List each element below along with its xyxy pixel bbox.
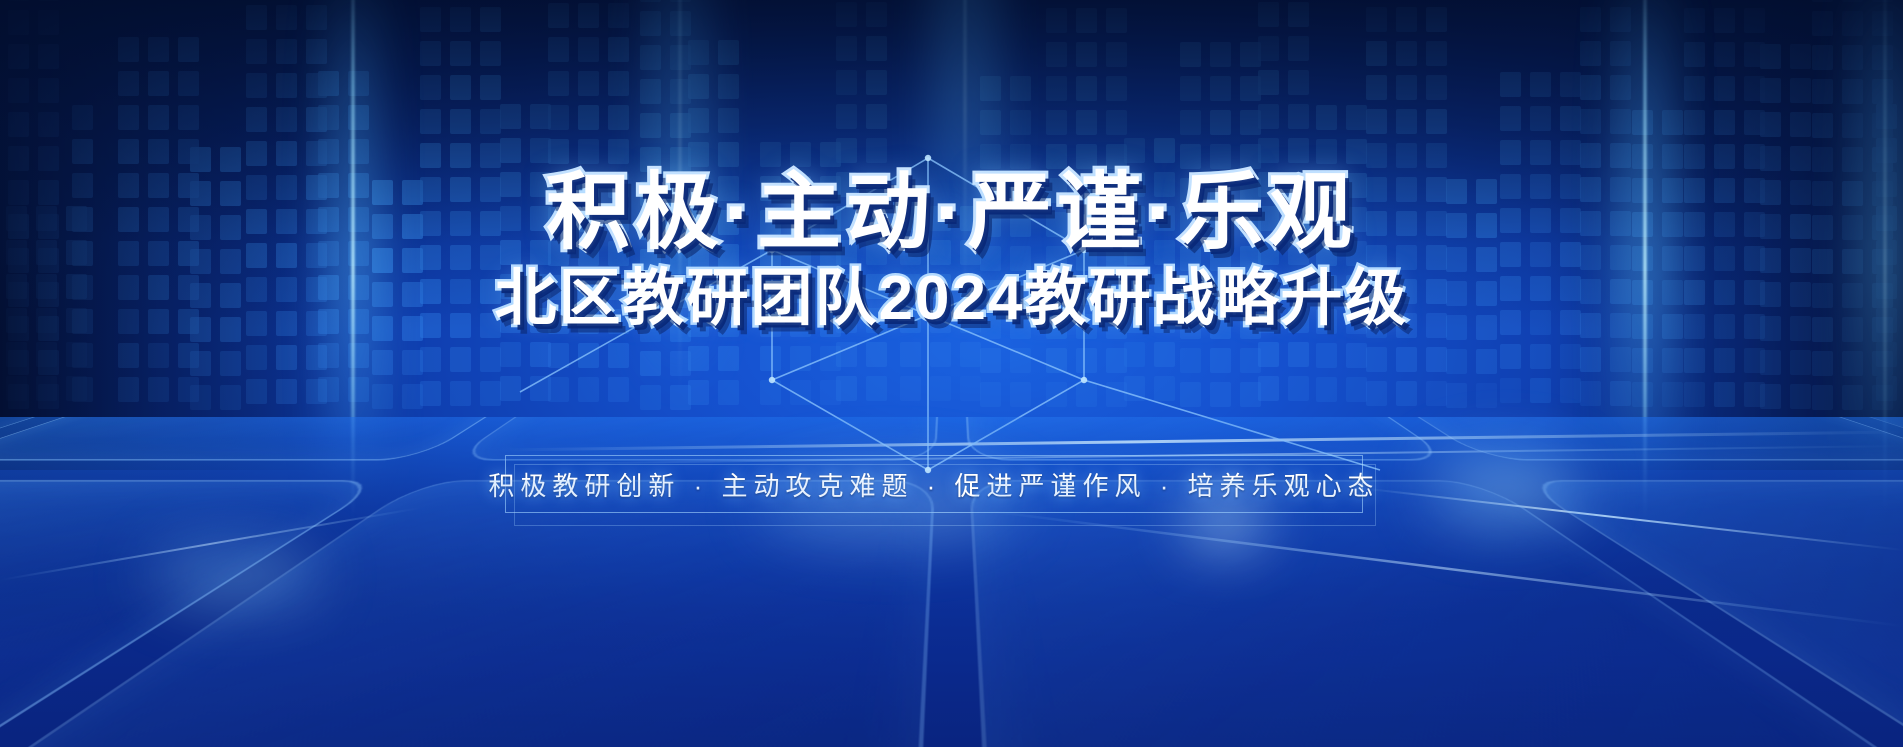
pixel-block	[318, 105, 339, 130]
floor-tile	[0, 417, 247, 461]
pixel-row	[6, 206, 87, 231]
pixel-block	[1288, 172, 1309, 197]
pixel-block	[1366, 75, 1387, 100]
pixel-block	[1240, 348, 1261, 373]
pixel-row	[372, 316, 423, 341]
pixel-row	[372, 180, 423, 205]
pixel-tower	[420, 7, 501, 406]
pixel-block	[38, 282, 59, 307]
pixel-block	[1560, 106, 1581, 131]
pixel-block	[1180, 382, 1201, 407]
pixel-block	[688, 278, 709, 303]
pixel-block	[318, 139, 339, 164]
pixel-block	[688, 346, 709, 371]
pixel-block	[500, 240, 521, 265]
pixel-row	[1632, 110, 1683, 135]
pixel-block	[900, 240, 921, 265]
pixel-block	[500, 104, 521, 129]
pixel-block	[836, 172, 857, 197]
pixel-row	[1760, 384, 1811, 409]
pixel-block	[220, 181, 241, 206]
floor-tile	[962, 417, 1453, 461]
pixel-block	[1366, 279, 1387, 304]
pixel-row	[318, 241, 369, 266]
pixel-row	[1500, 276, 1581, 301]
pixel-block	[6, 240, 27, 265]
pixel-block	[548, 105, 569, 130]
pixel-block	[8, 282, 29, 307]
pixel-block	[718, 210, 739, 235]
pixel-block	[718, 346, 739, 371]
pixel-tower	[1316, 105, 1367, 402]
pixel-block	[1812, 317, 1833, 342]
pixel-block	[688, 108, 709, 133]
pixel-block	[348, 241, 369, 266]
pixel-block	[372, 214, 393, 239]
pixel-block	[1046, 246, 1067, 271]
pixel-block	[1714, 280, 1735, 305]
pixel-block	[1812, 0, 1833, 2]
pixel-block	[1366, 41, 1387, 66]
pixel-row	[1580, 75, 1631, 100]
pixel-row	[8, 282, 59, 307]
pixel-block	[318, 207, 339, 232]
pixel-row	[1632, 348, 1683, 373]
pixel-block	[1316, 139, 1337, 164]
pixel-block	[1476, 213, 1497, 238]
pixel-row	[1580, 313, 1631, 338]
pixel-block	[1580, 279, 1601, 304]
pixel-row	[1180, 212, 1261, 237]
pixel-block	[66, 240, 87, 265]
pixel-block	[1426, 347, 1447, 372]
pixel-row	[1632, 280, 1683, 305]
pixel-row	[640, 317, 691, 342]
pixel-row	[1366, 313, 1447, 338]
pixel-block	[348, 105, 369, 130]
pixel-block	[500, 376, 521, 401]
pixel-block	[500, 342, 521, 367]
pixel-block	[480, 177, 501, 202]
pixel-block	[1426, 143, 1447, 168]
pixel-block	[1076, 314, 1097, 339]
pixel-block	[1076, 348, 1097, 373]
pixel-block	[960, 308, 981, 333]
pixel-block	[1124, 376, 1145, 401]
pixel-block	[866, 342, 887, 367]
pixel-row	[980, 314, 1031, 339]
pixel-row	[980, 280, 1031, 305]
pixel-block	[276, 39, 297, 64]
pixel-block	[1632, 178, 1653, 203]
pixel-row	[548, 343, 629, 368]
pixel-block	[1842, 317, 1863, 342]
pixel-block	[1316, 241, 1337, 266]
pixel-block	[1812, 249, 1833, 274]
pixel-block	[1010, 110, 1031, 135]
pixel-row	[1258, 308, 1309, 333]
pixel-block	[118, 105, 139, 130]
pixel-block	[306, 243, 327, 268]
pixel-block	[1426, 211, 1447, 236]
pixel-block	[450, 7, 471, 32]
pixel-row	[1366, 177, 1447, 202]
pixel-row	[420, 109, 501, 134]
pixel-block	[450, 279, 471, 304]
pixel-block	[640, 249, 661, 274]
pixel-row	[640, 249, 691, 274]
pixel-block	[608, 3, 629, 28]
pixel-tower	[118, 37, 199, 402]
pixel-block	[1872, 385, 1893, 410]
pixel-block	[8, 350, 29, 375]
pixel-block	[8, 10, 29, 35]
pixel-block	[1288, 376, 1309, 401]
pixel-row	[6, 376, 87, 401]
pixel-block	[578, 377, 599, 402]
pixel-row	[1500, 344, 1581, 369]
tagline-box: 积极教研创新 · 主动攻克难题 · 促进严谨作风 · 培养乐观心态	[505, 455, 1363, 513]
pixel-block	[178, 343, 199, 368]
pixel-block	[1124, 172, 1145, 197]
pixel-block	[1288, 2, 1309, 27]
pixel-block	[1396, 211, 1417, 236]
pixel-block	[1842, 45, 1863, 70]
pixel-block	[1790, 112, 1811, 137]
pixel-block	[246, 39, 267, 64]
pixel-block	[578, 343, 599, 368]
pixel-row	[1684, 144, 1765, 169]
pixel-block	[72, 139, 93, 164]
pixel-block	[1010, 246, 1031, 271]
pixel-block	[1580, 109, 1601, 134]
pixel-block	[980, 246, 1001, 271]
pixel-block	[1872, 249, 1893, 274]
pixel-block	[790, 210, 811, 235]
pixel-row	[1046, 280, 1127, 305]
pixel-row	[1876, 172, 1903, 197]
pixel-block	[640, 317, 661, 342]
pixel-block	[372, 384, 393, 409]
pixel-block	[1684, 382, 1705, 407]
pixel-block	[1476, 315, 1497, 340]
pixel-row	[1812, 385, 1893, 410]
pixel-row	[1180, 76, 1261, 101]
pixel-block	[1684, 314, 1705, 339]
pixel-block	[1744, 144, 1765, 169]
pixel-block	[760, 142, 781, 167]
pixel-row	[1180, 348, 1261, 373]
pixel-block	[1632, 212, 1653, 237]
pixel-row	[1760, 350, 1811, 375]
pixel-block	[1610, 279, 1631, 304]
pixel-row	[318, 343, 369, 368]
banner-title-sub: 北区教研团队2024教研战略升级	[0, 265, 1903, 333]
pixel-row	[118, 275, 199, 300]
pixel-block	[1316, 105, 1337, 130]
pixel-block	[1476, 179, 1497, 204]
pixel-block	[500, 138, 521, 163]
beam-halo	[650, 0, 710, 390]
pixel-row	[190, 351, 241, 376]
pixel-block	[640, 283, 661, 308]
pixel-block	[608, 37, 629, 62]
pixel-row	[760, 380, 841, 405]
pixel-block	[608, 275, 629, 300]
pixel-row	[318, 275, 369, 300]
pixel-block	[1714, 76, 1735, 101]
pixel-block	[1106, 348, 1127, 373]
pixel-row	[1046, 314, 1127, 339]
pixel-block	[220, 283, 241, 308]
top-vignette	[0, 0, 1903, 330]
pixel-tower	[900, 206, 981, 401]
pixel-block	[178, 309, 199, 334]
pixel-row	[1446, 315, 1497, 340]
pixel-block	[38, 316, 59, 341]
pixel-block	[836, 206, 857, 231]
pixel-row	[1876, 206, 1903, 231]
pixel-block	[578, 3, 599, 28]
pixel-row	[1812, 0, 1893, 2]
pixel-block	[1426, 177, 1447, 202]
pixel-block	[1258, 36, 1279, 61]
pixel-block	[420, 313, 441, 338]
pixel-block	[900, 206, 921, 231]
pixel-block	[1124, 342, 1145, 367]
beam-core	[352, 0, 355, 520]
pixel-row	[246, 175, 327, 200]
pixel-row	[836, 376, 887, 401]
pixel-row	[118, 207, 199, 232]
pixel-block	[1346, 275, 1367, 300]
pixel-block	[1684, 246, 1705, 271]
pixel-block	[1366, 177, 1387, 202]
pixel-block	[866, 308, 887, 333]
pixel-block	[1446, 383, 1467, 408]
pixel-block	[148, 343, 169, 368]
pixel-block	[670, 45, 691, 70]
pixel-row	[8, 214, 59, 239]
pixel-block	[1154, 274, 1175, 299]
pixel-block	[1396, 41, 1417, 66]
pixel-row	[1580, 381, 1631, 406]
pixel-tower	[1258, 0, 1309, 401]
pixel-block	[548, 275, 569, 300]
pixel-block	[190, 385, 211, 410]
pixel-block	[1046, 144, 1067, 169]
pixel-row	[1046, 212, 1127, 237]
pixel-row	[688, 176, 739, 201]
pixel-block	[1106, 246, 1127, 271]
pixel-block	[1580, 211, 1601, 236]
pixel-tower	[760, 142, 841, 405]
pixel-block	[318, 343, 339, 368]
pixel-block	[372, 248, 393, 273]
pixel-block	[420, 75, 441, 100]
pixel-block	[66, 342, 87, 367]
pixel-block	[1760, 316, 1781, 341]
pixel-block	[790, 312, 811, 337]
pixel-block	[790, 142, 811, 167]
pixel-row	[1258, 104, 1309, 129]
pixel-row	[640, 11, 691, 36]
floor-tile	[1516, 480, 1903, 747]
pixel-row	[8, 248, 59, 273]
pixel-row	[1500, 208, 1581, 233]
pixel-block	[866, 240, 887, 265]
pixel-block	[1560, 140, 1581, 165]
pixel-block	[178, 139, 199, 164]
pixel-block	[930, 376, 951, 401]
pixel-block	[1530, 242, 1551, 267]
pixel-block	[1530, 276, 1551, 301]
pixel-block	[118, 207, 139, 232]
pixel-block	[1790, 214, 1811, 239]
pixel-block	[1106, 144, 1127, 169]
pixel-block	[480, 381, 501, 406]
pixel-row	[548, 71, 629, 96]
pixel-block	[1154, 138, 1175, 163]
pixel-block	[1240, 212, 1261, 237]
pixel-block	[900, 274, 921, 299]
pixel-row	[1180, 144, 1261, 169]
pixel-block	[420, 381, 441, 406]
pixel-block	[220, 385, 241, 410]
pixel-row	[836, 70, 887, 95]
pixel-row	[1500, 106, 1581, 131]
pixel-row	[420, 211, 501, 236]
pixel-block	[548, 173, 569, 198]
pixel-block	[420, 143, 441, 168]
pixel-row	[1876, 274, 1903, 299]
light-beam-left	[330, 0, 376, 520]
pixel-row	[1760, 146, 1811, 171]
pixel-block	[348, 173, 369, 198]
pixel-row	[548, 309, 629, 334]
pixel-tower	[640, 0, 691, 410]
pixel-block	[38, 146, 59, 171]
pixel-row	[836, 240, 887, 265]
pixel-block	[1426, 313, 1447, 338]
pixel-row	[1046, 144, 1127, 169]
pixel-block	[1346, 207, 1367, 232]
pixel-block	[1046, 212, 1067, 237]
pixel-row	[1760, 214, 1811, 239]
pixel-block	[790, 346, 811, 371]
pixel-row	[72, 241, 93, 266]
pixel-block	[1346, 343, 1367, 368]
pixel-block	[1760, 214, 1781, 239]
pixel-block	[1106, 76, 1127, 101]
pixel-row	[500, 274, 551, 299]
pixel-row	[836, 206, 887, 231]
pixel-block	[548, 207, 569, 232]
pixel-row	[688, 244, 739, 269]
pixel-block	[118, 275, 139, 300]
pixel-block	[118, 173, 139, 198]
pixel-block	[1560, 276, 1581, 301]
pixel-block	[306, 39, 327, 64]
pixel-block	[1610, 7, 1631, 32]
pixel-block	[718, 108, 739, 133]
pixel-block	[480, 279, 501, 304]
pixel-row	[8, 0, 59, 1]
pixel-row	[1500, 140, 1581, 165]
pixel-block	[8, 214, 29, 239]
pixel-row	[72, 377, 93, 402]
pixel-block	[178, 377, 199, 402]
pixel-row	[640, 385, 691, 410]
pixel-block	[1500, 106, 1521, 131]
pixel-block	[246, 175, 267, 200]
pixel-row	[688, 142, 739, 167]
pixel-block	[820, 142, 841, 167]
pixel-block	[306, 141, 327, 166]
pixel-block	[608, 71, 629, 96]
pixel-row	[420, 245, 501, 270]
pixel-block	[640, 351, 661, 376]
pixel-row	[900, 342, 981, 367]
pixel-block	[1744, 178, 1765, 203]
pixel-block	[1684, 348, 1705, 373]
pixel-row	[1124, 138, 1175, 163]
pixel-tower	[1760, 44, 1811, 409]
pixel-block	[1366, 313, 1387, 338]
pixel-block	[318, 275, 339, 300]
pixel-block	[530, 274, 551, 299]
pixel-block	[1106, 178, 1127, 203]
pixel-row	[836, 274, 887, 299]
pixel-block	[578, 139, 599, 164]
pixel-row	[640, 45, 691, 70]
pixel-block	[1760, 248, 1781, 273]
pixel-block	[1662, 212, 1683, 237]
pixel-block	[306, 107, 327, 132]
pixel-block	[1744, 348, 1765, 373]
pixel-block	[1662, 382, 1683, 407]
pixel-block	[38, 10, 59, 35]
pixel-row	[420, 41, 501, 66]
pixel-block	[178, 207, 199, 232]
pixel-block	[670, 283, 691, 308]
pixel-block	[688, 380, 709, 405]
pixel-row	[420, 7, 501, 32]
pixel-row	[72, 173, 93, 198]
pixel-block	[420, 211, 441, 236]
pixel-block	[1872, 45, 1893, 70]
pixel-row	[1580, 279, 1631, 304]
pixel-row	[548, 275, 629, 300]
pixel-block	[1210, 314, 1231, 339]
pixel-block	[640, 45, 661, 70]
pixel-block	[1288, 36, 1309, 61]
pixel-block	[500, 274, 521, 299]
floor-tile	[1309, 417, 1903, 461]
pixel-block	[1258, 376, 1279, 401]
pixel-block	[306, 277, 327, 302]
pixel-row	[8, 180, 59, 205]
pixel-block	[318, 173, 339, 198]
pixel-block	[318, 377, 339, 402]
pixel-block	[1288, 70, 1309, 95]
pixel-block	[1346, 377, 1367, 402]
pixel-row	[1180, 42, 1261, 67]
pixel-block	[530, 342, 551, 367]
pixel-row	[8, 384, 59, 409]
pixel-block	[1124, 240, 1145, 265]
pixel-block	[1632, 110, 1653, 135]
